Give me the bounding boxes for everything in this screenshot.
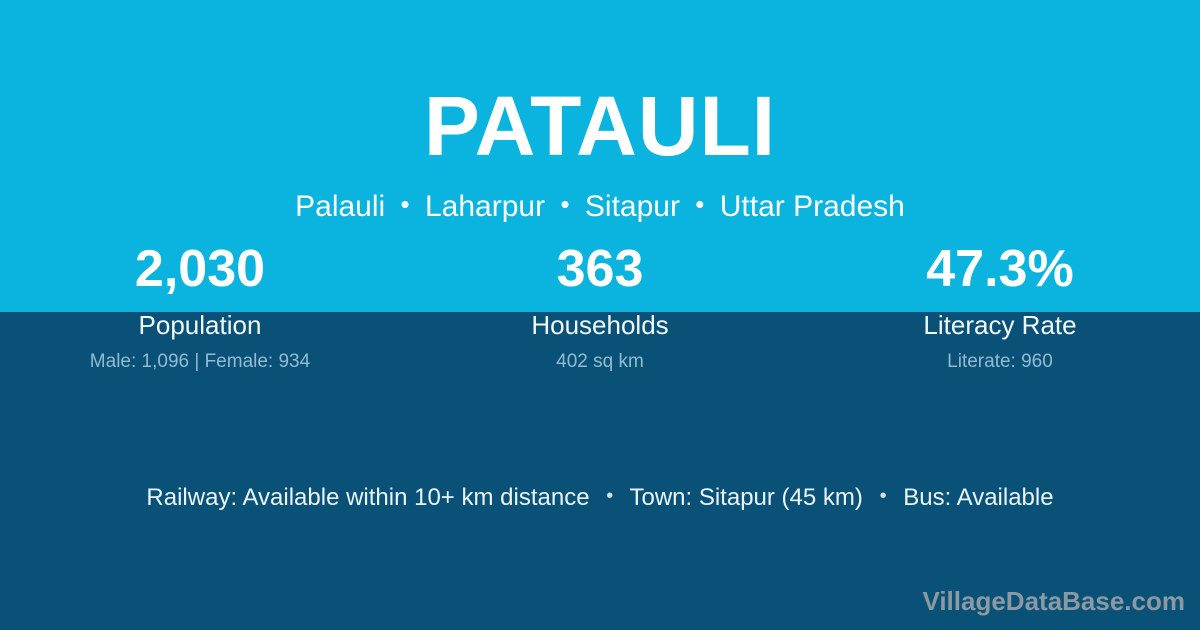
breadcrumb-separator-icon: • [688,189,711,219]
stat-population: 2,030 Population Male: 1,096 | Female: 9… [0,243,400,371]
village-info-card: PATAULI Palauli • Laharpur • Sitapur • U… [0,0,1200,630]
facility-bus: Bus: Available [903,484,1053,511]
breadcrumb-item-village: Palauli [295,190,385,223]
facilities-line: Railway: Available within 10+ km distanc… [0,484,1200,513]
stat-label: Literacy Rate [800,312,1200,338]
stat-literacy-rate: 47.3% Literacy Rate Literate: 960 [800,243,1200,371]
stat-subtext: Literate: 960 [800,352,1200,371]
stat-subtext: 402 sq km [400,352,800,371]
stat-households: 363 Households 402 sq km [400,243,800,371]
stat-value: 2,030 [0,243,400,295]
breadcrumb: Palauli • Laharpur • Sitapur • Uttar Pra… [0,168,1200,223]
breadcrumb-item-district: Sitapur [585,190,680,223]
breadcrumb-item-state: Uttar Pradesh [720,190,905,223]
site-watermark: VillageDataBase.com [922,588,1185,614]
stat-subtext: Male: 1,096 | Female: 934 [0,352,400,371]
facility-railway: Railway: Available within 10+ km distanc… [146,484,589,511]
stat-label: Population [0,312,400,338]
page-title: PATAULI [0,0,1200,168]
facility-town: Town: Sitapur (45 km) [629,484,862,511]
stat-value: 363 [400,243,800,295]
breadcrumb-separator-icon: • [394,189,417,219]
breadcrumb-separator-icon: • [553,189,576,219]
facility-separator-icon: • [870,485,897,507]
breadcrumb-item-block: Laharpur [425,190,545,223]
stat-value: 47.3% [800,243,1200,295]
card-header: PATAULI Palauli • Laharpur • Sitapur • U… [0,0,1200,223]
stats-row: 2,030 Population Male: 1,096 | Female: 9… [0,243,1200,371]
facility-separator-icon: • [596,485,623,507]
stat-label: Households [400,312,800,338]
